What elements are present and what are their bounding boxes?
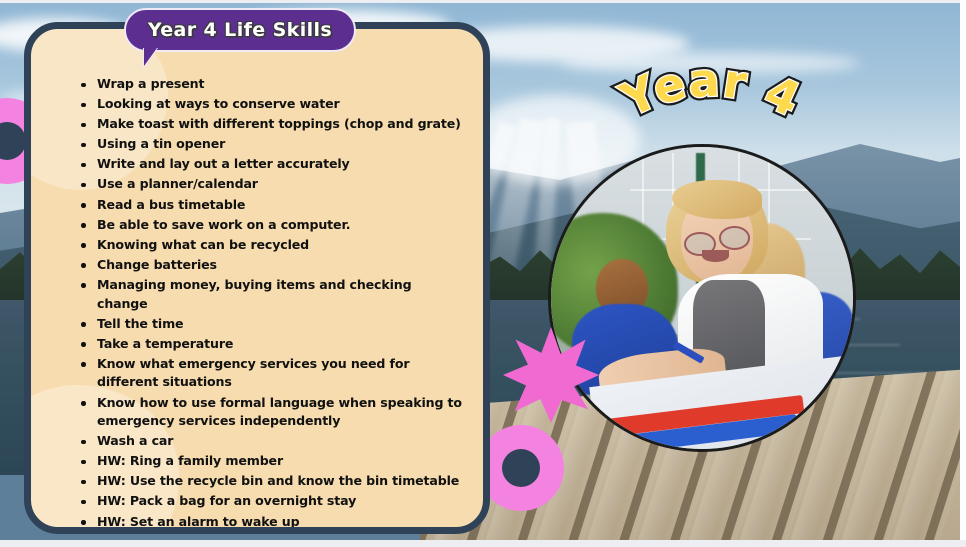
life-skill-item: Use a planner/calendar bbox=[79, 175, 465, 194]
life-skill-item: HW: Changing your bedding bbox=[79, 533, 465, 534]
life-skill-item: HW: Set an alarm to wake up bbox=[79, 513, 465, 532]
speech-bubble-tail bbox=[144, 48, 166, 66]
life-skill-item: HW: Pack a bag for an overnight stay bbox=[79, 492, 465, 511]
slide-top-edge bbox=[0, 0, 966, 3]
slide-bottom-edge bbox=[0, 540, 966, 547]
life-skill-item: Know how to use formal language when spe… bbox=[79, 394, 465, 431]
life-skills-card: Wrap a presentLooking at ways to conserv… bbox=[24, 22, 490, 534]
life-skill-item: HW: Ring a family member bbox=[79, 452, 465, 471]
life-skill-item: Change batteries bbox=[79, 256, 465, 275]
slide-right-edge bbox=[960, 0, 966, 547]
life-skill-item: HW: Use the recycle bin and know the bin… bbox=[79, 472, 465, 491]
life-skill-item: Make toast with different toppings (chop… bbox=[79, 115, 465, 134]
slide-title: Year 4 Life Skills bbox=[148, 19, 332, 41]
life-skill-item: Know what emergency services you need fo… bbox=[79, 355, 465, 392]
circular-pupil-photo bbox=[548, 144, 856, 452]
pink-ring-icon bbox=[478, 425, 564, 511]
life-skills-list: Wrap a presentLooking at ways to conserv… bbox=[79, 75, 465, 534]
life-skill-item: Take a temperature bbox=[79, 335, 465, 354]
life-skill-item: Knowing what can be recycled bbox=[79, 236, 465, 255]
life-skill-item: Read a bus timetable bbox=[79, 196, 465, 215]
life-skill-item: Using a tin opener bbox=[79, 135, 465, 154]
life-skill-item: Tell the time bbox=[79, 315, 465, 334]
life-skill-item: Managing money, buying items and checkin… bbox=[79, 276, 465, 313]
life-skill-item: Write and lay out a letter accurately bbox=[79, 155, 465, 174]
life-skill-item: Be able to save work on a computer. bbox=[79, 216, 465, 235]
title-speech-bubble: Year 4 Life Skills bbox=[124, 8, 356, 52]
presentation-slide: Year 4 Year 4 Wrap a presentLooking at w… bbox=[0, 0, 966, 547]
life-skill-item: Wrap a present bbox=[79, 75, 465, 94]
life-skill-item: Wash a car bbox=[79, 432, 465, 451]
life-skill-item: Looking at ways to conserve water bbox=[79, 95, 465, 114]
arched-year-title: Year 4 Year 4 bbox=[596, 70, 826, 150]
